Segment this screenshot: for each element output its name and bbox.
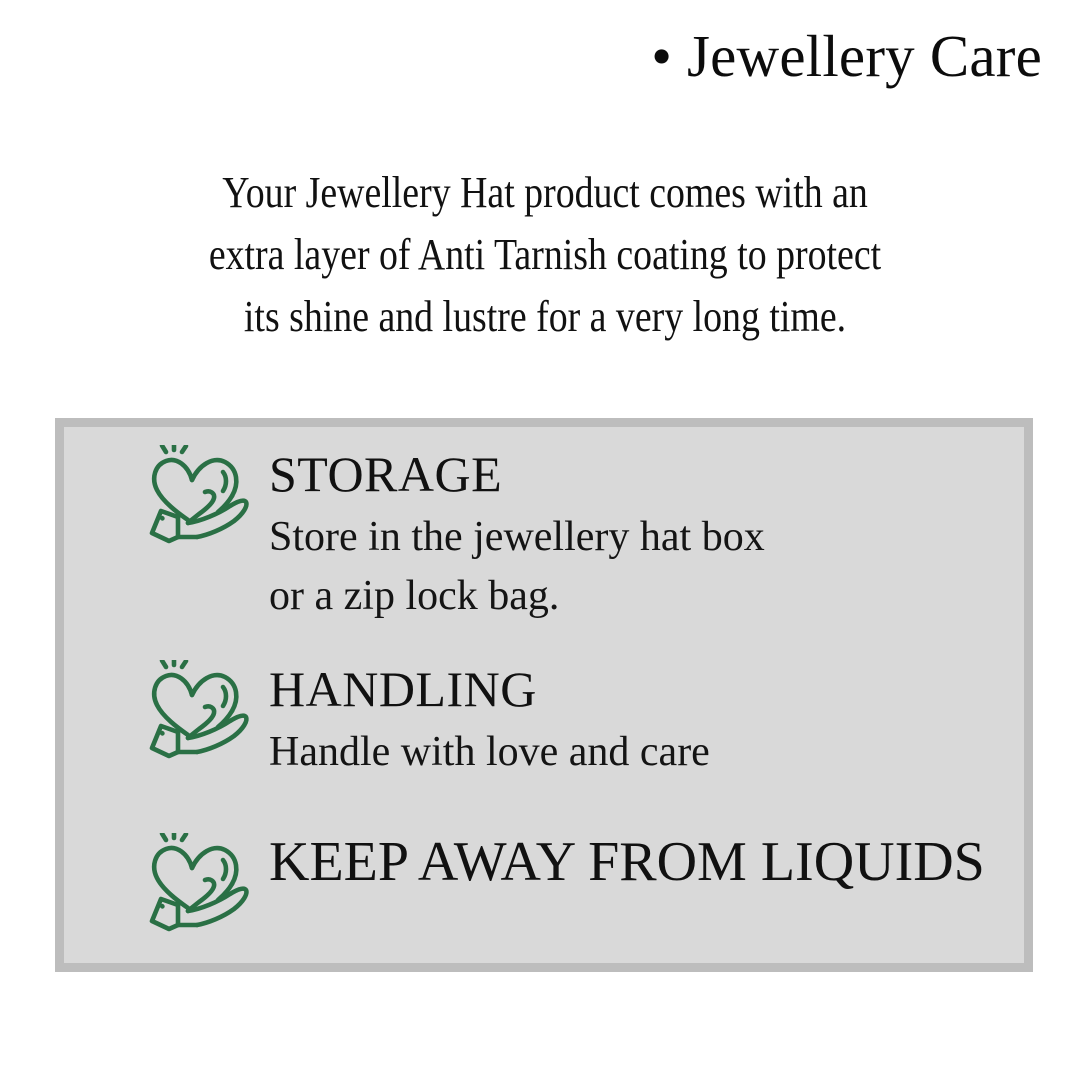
care-item-handling-text: HANDLING Handle with love and care [269, 660, 710, 782]
care-item-storage-body-line-1: Store in the jewellery hat box [269, 508, 765, 567]
care-item-liquids-text: KEEP AWAY FROM LIQUIDS [269, 833, 985, 889]
care-item-handling-heading: HANDLING [269, 661, 537, 717]
care-item-storage-heading: STORAGE [269, 446, 502, 502]
care-item-storage-body: Store in the jewellery hat box or a zip … [269, 508, 765, 626]
intro-paragraph: Your Jewellery Hat product comes with an… [128, 162, 962, 348]
heart-in-hand-icon [145, 445, 253, 549]
intro-line-2: extra layer of Anti Tarnish coating to p… [128, 224, 962, 286]
care-item-storage: STORAGE Store in the jewellery hat box o… [64, 445, 765, 626]
care-item-liquids: KEEP AWAY FROM LIQUIDS [64, 833, 985, 937]
intro-line-3: its shine and lustre for a very long tim… [128, 286, 962, 348]
care-item-storage-body-line-2: or a zip lock bag. [269, 567, 765, 626]
care-item-handling: HANDLING Handle with love and care [64, 660, 710, 782]
care-item-liquids-heading: KEEP AWAY FROM LIQUIDS [269, 831, 985, 893]
intro-line-1: Your Jewellery Hat product comes with an [128, 162, 962, 224]
care-instructions-panel: STORAGE Store in the jewellery hat box o… [55, 418, 1033, 972]
care-item-handling-body-line-1: Handle with love and care [269, 723, 710, 782]
heart-in-hand-icon [145, 660, 253, 764]
page-title: • Jewellery Care [0, 26, 1042, 88]
heart-in-hand-icon [145, 833, 253, 937]
care-item-handling-body: Handle with love and care [269, 723, 710, 782]
care-item-storage-text: STORAGE Store in the jewellery hat box o… [269, 445, 765, 626]
